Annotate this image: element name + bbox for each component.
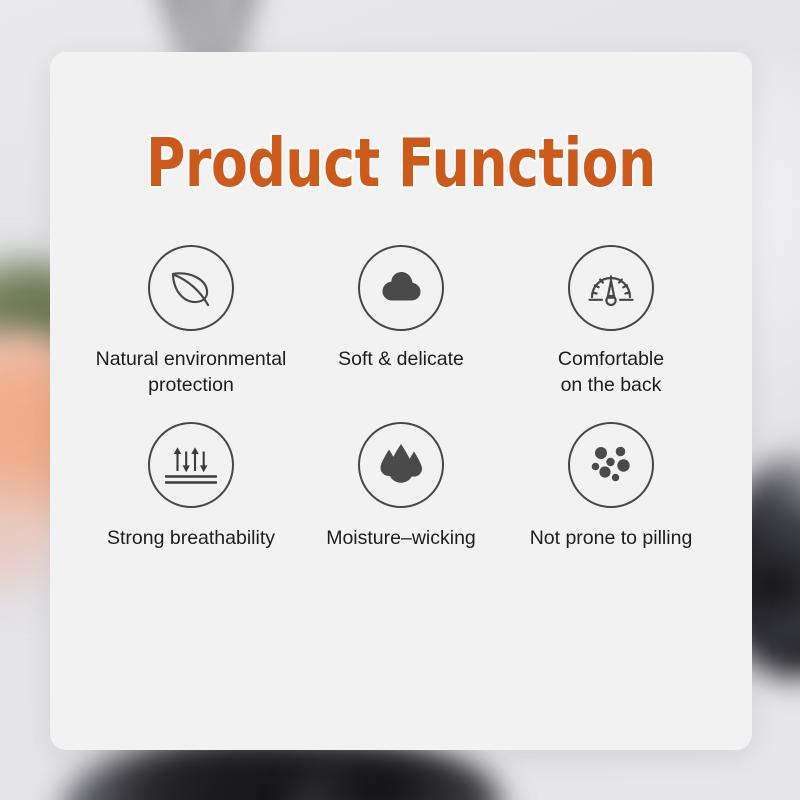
feature-not-prone-to-pilling[interactable]: Not prone to pilling [506,422,716,552]
water-droplets-icon [358,422,444,508]
feature-label: Moisture–wicking [326,526,476,552]
pilling-dots-icon [568,422,654,508]
product-function-card: Product Function Natural environmental p… [50,52,752,750]
feature-label: Not prone to pilling [530,526,693,552]
leaf-icon [148,245,234,331]
feature-soft-and-delicate[interactable]: Soft & delicate [296,245,506,398]
feature-strong-breathability[interactable]: Strong breathability [86,422,296,552]
feature-comfortable-on-the-back[interactable]: Comfortable on the back [506,245,716,398]
page-title: Product Function [120,130,682,197]
feature-label: Strong breathability [107,526,275,552]
breathability-arrows-icon [148,422,234,508]
feature-grid: Natural environmental protection Soft & … [50,245,752,552]
feature-label: Soft & delicate [338,347,464,373]
feature-natural-environmental-protection[interactable]: Natural environmental protection [86,245,296,398]
feature-label: Comfortable on the back [558,347,664,398]
gauge-icon [568,245,654,331]
cloud-icon [358,245,444,331]
feature-label: Natural environmental protection [96,347,287,398]
feature-moisture-wicking[interactable]: Moisture–wicking [296,422,506,552]
